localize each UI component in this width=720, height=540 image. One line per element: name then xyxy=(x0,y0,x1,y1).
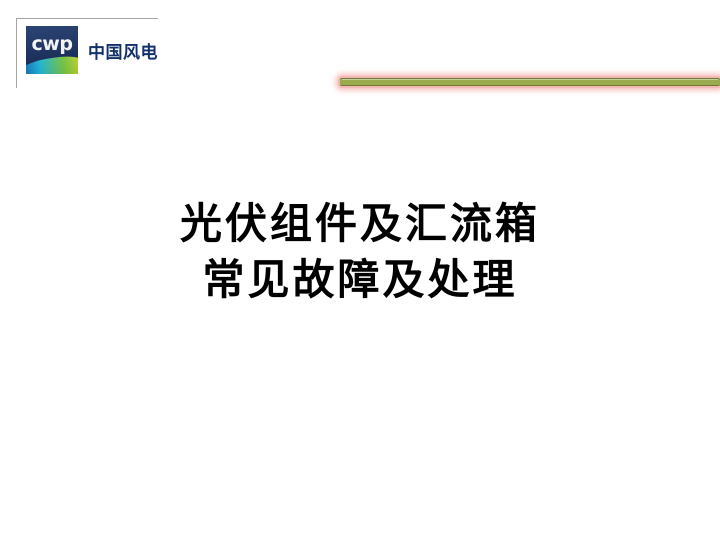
cwp-logo-mark: cwp xyxy=(26,26,78,74)
slide-canvas: cwp 中国风电 光伏组件及汇流箱 常见故障及处理 xyxy=(0,0,720,540)
logo-wordmark: cwp xyxy=(26,35,78,54)
company-logo: cwp 中国风电 xyxy=(26,26,158,74)
header-top-rule xyxy=(16,18,158,19)
header-left-rule xyxy=(16,18,17,88)
decorative-accent-bar xyxy=(340,78,720,86)
slide-title: 光伏组件及汇流箱 常见故障及处理 xyxy=(0,196,720,308)
logo-chinese-name: 中国风电 xyxy=(88,38,158,63)
title-line-1: 光伏组件及汇流箱 xyxy=(0,196,720,252)
title-line-2: 常见故障及处理 xyxy=(0,252,720,308)
